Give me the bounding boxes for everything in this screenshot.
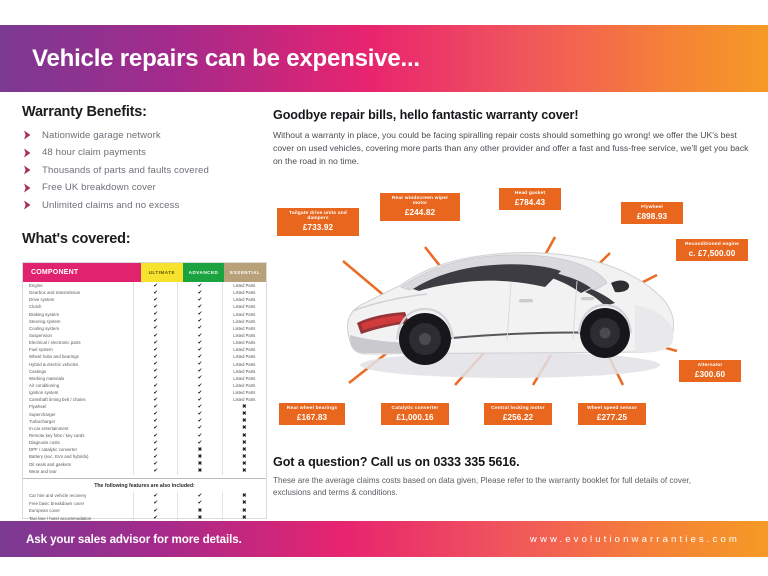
component-name: Camshaft timing belt / chains	[23, 397, 133, 402]
warranty-benefits-list: Nationwide garage network48 hour claim p…	[22, 129, 270, 211]
component-name: Remote key fobs / key cards	[23, 433, 133, 438]
component-name: Engine	[23, 283, 133, 288]
cell-advanced: ✔	[177, 492, 221, 500]
cell-advanced: ✔	[177, 303, 221, 310]
check-icon: ✔	[153, 404, 158, 410]
callout-alternator: Alternator £300.60	[679, 360, 741, 382]
callout-rear-wiper-motor: Rear windscreen wiper motor £244.82	[380, 193, 460, 221]
cell-advanced: ✔	[177, 368, 221, 375]
listed-parts-label: Listed Parts	[233, 304, 255, 309]
check-icon: ✔	[198, 318, 203, 324]
listed-parts-label: Listed Parts	[233, 283, 255, 288]
cell-essential: ✖	[222, 439, 266, 446]
check-icon: ✔	[153, 500, 158, 506]
check-icon: ✔	[153, 325, 158, 331]
cross-icon: ✖	[242, 433, 247, 439]
column-header-component: Component	[23, 263, 141, 282]
cell-advanced: ✔	[177, 382, 221, 389]
cell-ultimate: ✔	[133, 382, 177, 389]
cell-advanced: ✖	[177, 507, 221, 515]
cell-essential: Listed Parts	[222, 382, 266, 389]
check-icon: ✔	[198, 311, 203, 317]
footer-website-url[interactable]: www.evolutionwarranties.com	[530, 534, 740, 545]
check-icon: ✔	[153, 493, 158, 499]
check-icon: ✔	[153, 433, 158, 439]
component-name: Electrical / electronic parts	[23, 340, 133, 345]
check-icon: ✔	[153, 461, 158, 467]
benefit-label: Unlimited claims and no excess	[42, 200, 179, 211]
callout-label: Tailgate drive units and dampers	[282, 211, 354, 222]
cell-essential: ✖	[222, 446, 266, 453]
cell-advanced: ✔	[177, 396, 221, 403]
component-name: Wear and tear	[23, 469, 133, 474]
check-icon: ✔	[198, 333, 203, 339]
component-name: In-car entertainment	[23, 426, 133, 431]
callout-reconditioned-engine: Reconditioned engine c. £7,500.00	[676, 239, 748, 261]
table-row: Hybrid & electric vehicles✔✔Listed Parts	[23, 361, 266, 368]
cell-ultimate: ✔	[133, 432, 177, 439]
cell-advanced: ✔	[177, 389, 221, 396]
table-row: Electrical / electronic parts✔✔Listed Pa…	[23, 339, 266, 346]
check-icon: ✔	[198, 433, 203, 439]
cross-icon: ✖	[198, 454, 203, 460]
cell-ultimate: ✔	[133, 492, 177, 500]
page-footer: Ask your sales advisor for more details.…	[0, 521, 768, 557]
cross-icon: ✖	[242, 468, 247, 474]
check-icon: ✔	[153, 454, 158, 460]
cell-advanced: ✔	[177, 339, 221, 346]
component-name: Car hire and vehicle recovery	[23, 493, 133, 498]
check-icon: ✔	[153, 283, 158, 289]
callout-label: Wheel speed sensor	[583, 406, 641, 411]
check-icon: ✔	[153, 440, 158, 446]
coverage-table-header: Component ULTIMATE ADVANCED ESSENTIAL	[23, 263, 266, 282]
table-row: Remote key fobs / key cards✔✔✖	[23, 432, 266, 439]
listed-parts-label: Listed Parts	[233, 354, 255, 359]
cell-essential: Listed Parts	[222, 396, 266, 403]
cell-essential: Listed Parts	[222, 361, 266, 368]
table-row: Wheel hubs and bearings✔✔Listed Parts	[23, 353, 266, 360]
cell-advanced: ✔	[177, 425, 221, 432]
check-icon: ✔	[198, 325, 203, 331]
check-icon: ✔	[153, 368, 158, 374]
callout-price: £733.92	[282, 223, 354, 232]
cell-advanced: ✖	[177, 446, 221, 453]
cell-ultimate: ✔	[133, 346, 177, 353]
component-name: Cooling system	[23, 326, 133, 331]
check-icon: ✔	[153, 447, 158, 453]
cell-essential: ✖	[222, 418, 266, 425]
check-icon: ✔	[198, 390, 203, 396]
component-name: DPF / catalytic converter	[23, 447, 133, 452]
cta-disclaimer: These are the average claims costs based…	[273, 475, 703, 499]
cell-ultimate: ✔	[133, 403, 177, 410]
callout-tailgate: Tailgate drive units and dampers £733.92	[277, 208, 359, 236]
cell-ultimate: ✔	[133, 375, 177, 382]
component-name: Flywheel	[23, 404, 133, 409]
warranty-benefits-title: Warranty Benefits:	[22, 104, 270, 120]
cell-ultimate: ✔	[133, 318, 177, 325]
check-icon: ✔	[198, 440, 203, 446]
page-header: Vehicle repairs can be expensive...	[0, 25, 768, 92]
component-name: Suspension	[23, 333, 133, 338]
cell-essential: Listed Parts	[222, 353, 266, 360]
callout-price: c. £7,500.00	[681, 249, 743, 258]
check-icon: ✔	[198, 500, 203, 506]
component-name: Supercharger	[23, 412, 133, 417]
cell-essential: ✖	[222, 403, 266, 410]
cell-advanced: ✔	[177, 311, 221, 318]
cell-advanced: ✔	[177, 296, 221, 303]
cell-advanced: ✔	[177, 403, 221, 410]
table-row: Engine✔✔Listed Parts	[23, 282, 266, 289]
intro-body: Without a warranty in place, you could b…	[273, 129, 751, 169]
table-row: Gearbox and transmission✔✔Listed Parts	[23, 289, 266, 296]
cell-ultimate: ✔	[133, 499, 177, 507]
callout-head-gasket: Head gasket £784.43	[499, 188, 561, 210]
cell-essential: Listed Parts	[222, 311, 266, 318]
cross-icon: ✖	[198, 447, 203, 453]
callout-label: Rear windscreen wiper motor	[385, 196, 455, 207]
column-header-ultimate: ULTIMATE	[141, 263, 183, 282]
footer-advisor-text: Ask your sales advisor for more details.	[26, 533, 242, 546]
callout-price: £244.82	[385, 208, 455, 217]
check-icon: ✔	[153, 354, 158, 360]
check-icon: ✔	[153, 333, 158, 339]
cross-icon: ✖	[242, 440, 247, 446]
listed-parts-label: Listed Parts	[233, 290, 255, 295]
cell-essential: Listed Parts	[222, 346, 266, 353]
component-name: Diagnosis costs	[23, 440, 133, 445]
table-row: Braking system✔✔Listed Parts	[23, 311, 266, 318]
table-row: Turbocharger✔✔✖	[23, 418, 266, 425]
whats-covered-title: What's covered:	[22, 231, 270, 247]
intro-block: Goodbye repair bills, hello fantastic wa…	[273, 108, 751, 169]
listed-parts-label: Listed Parts	[233, 383, 255, 388]
table-row: Ignition system✔✔Listed Parts	[23, 389, 266, 396]
cell-ultimate: ✔	[133, 446, 177, 453]
cell-ultimate: ✔	[133, 461, 177, 468]
extras-subheading: The following features are also included…	[23, 478, 266, 492]
cell-advanced: ✔	[177, 318, 221, 325]
callout-label: Alternator	[684, 363, 736, 368]
benefit-item: Nationwide garage network	[22, 129, 270, 141]
cell-essential: Listed Parts	[222, 282, 266, 289]
check-icon: ✔	[153, 347, 158, 353]
listed-parts-label: Listed Parts	[233, 319, 255, 324]
table-row: Flywheel✔✔✖	[23, 403, 266, 410]
left-column: Warranty Benefits: Nationwide garage net…	[22, 104, 270, 256]
table-row: Oil seals and gaskets✔✖✖	[23, 461, 266, 468]
check-icon: ✔	[198, 340, 203, 346]
column-header-advanced: ADVANCED	[183, 263, 225, 282]
callout-label: Flywheel	[626, 205, 678, 210]
component-name: Turbocharger	[23, 419, 133, 424]
cell-ultimate: ✔	[133, 311, 177, 318]
column-header-essential: ESSENTIAL	[224, 263, 266, 282]
cross-icon: ✖	[242, 508, 247, 514]
check-icon: ✔	[198, 368, 203, 374]
cell-advanced: ✔	[177, 282, 221, 289]
check-icon: ✔	[198, 418, 203, 424]
coverage-extras-body: Car hire and vehicle recovery✔✔✖Free bas…	[23, 492, 266, 518]
check-icon: ✔	[153, 418, 158, 424]
chevron-right-icon	[22, 129, 34, 141]
benefit-item: Thousands of parts and faults covered	[22, 164, 270, 176]
callout-price: £256.22	[489, 413, 547, 422]
cell-ultimate: ✔	[133, 389, 177, 396]
check-icon: ✔	[198, 304, 203, 310]
callout-price: £167.83	[284, 413, 340, 422]
cell-advanced: ✔	[177, 499, 221, 507]
component-name: Clutch	[23, 304, 133, 309]
callout-flywheel: Flywheel £898.93	[621, 202, 683, 224]
cross-icon: ✖	[242, 404, 247, 410]
cell-ultimate: ✔	[133, 339, 177, 346]
coverage-table-body: Engine✔✔Listed PartsGearbox and transmis…	[23, 282, 266, 475]
table-row: Cooling system✔✔Listed Parts	[23, 325, 266, 332]
chevron-right-icon	[22, 199, 34, 211]
callout-label: Head gasket	[504, 191, 556, 196]
cross-icon: ✖	[198, 461, 203, 467]
table-row: Air conditioning✔✔Listed Parts	[23, 382, 266, 389]
check-icon: ✔	[153, 297, 158, 303]
check-icon: ✔	[153, 397, 158, 403]
car-diagram: Tailgate drive units and dampers £733.92…	[273, 185, 768, 450]
cell-essential: ✖	[222, 492, 266, 500]
cell-ultimate: ✔	[133, 411, 177, 418]
table-row: Drive system✔✔Listed Parts	[23, 296, 266, 303]
component-name: Battery (exc. EVs and hybrids)	[23, 454, 133, 459]
cross-icon: ✖	[198, 508, 203, 514]
check-icon: ✔	[198, 375, 203, 381]
cell-essential: Listed Parts	[222, 375, 266, 382]
callout-price: £784.43	[504, 198, 556, 207]
cross-icon: ✖	[242, 493, 247, 499]
benefit-label: Thousands of parts and faults covered	[42, 165, 209, 176]
callout-label: Central locking motor	[489, 406, 547, 411]
cell-ultimate: ✔	[133, 453, 177, 460]
cell-ultimate: ✔	[133, 368, 177, 375]
check-icon: ✔	[198, 283, 203, 289]
component-name: Castings	[23, 369, 133, 374]
cell-essential: ✖	[222, 411, 266, 418]
callout-central-locking-motor: Central locking motor £256.22	[484, 403, 552, 425]
listed-parts-label: Listed Parts	[233, 297, 255, 302]
cell-ultimate: ✔	[133, 325, 177, 332]
cell-ultimate: ✔	[133, 425, 177, 432]
check-icon: ✔	[153, 318, 158, 324]
check-icon: ✔	[153, 411, 158, 417]
listed-parts-label: Listed Parts	[233, 347, 255, 352]
cross-icon: ✖	[242, 425, 247, 431]
callout-rear-wheel-bearings: Rear wheel bearings £167.83	[279, 403, 345, 425]
listed-parts-label: Listed Parts	[233, 397, 255, 402]
cell-essential: Listed Parts	[222, 303, 266, 310]
check-icon: ✔	[153, 375, 158, 381]
check-icon: ✔	[153, 468, 158, 474]
check-icon: ✔	[153, 390, 158, 396]
table-row: Suspension✔✔Listed Parts	[23, 332, 266, 339]
benefit-item: Free UK breakdown cover	[22, 182, 270, 194]
cell-essential: Listed Parts	[222, 289, 266, 296]
table-row: DPF / catalytic converter✔✖✖	[23, 446, 266, 453]
cell-advanced: ✔	[177, 346, 221, 353]
cell-ultimate: ✔	[133, 468, 177, 475]
table-row: Wear and tear✔✖✖	[23, 468, 266, 475]
cross-icon: ✖	[242, 461, 247, 467]
cell-essential: ✖	[222, 507, 266, 515]
check-icon: ✔	[153, 290, 158, 296]
cell-ultimate: ✔	[133, 296, 177, 303]
cell-essential: Listed Parts	[222, 332, 266, 339]
cell-essential: ✖	[222, 468, 266, 475]
check-icon: ✔	[153, 340, 158, 346]
callout-label: Catalytic converter	[386, 406, 444, 411]
cross-icon: ✖	[242, 500, 247, 506]
cell-ultimate: ✔	[133, 332, 177, 339]
cell-advanced: ✔	[177, 418, 221, 425]
coverage-table: Component ULTIMATE ADVANCED ESSENTIAL En…	[22, 262, 267, 519]
table-row: Diagnosis costs✔✔✖	[23, 439, 266, 446]
cell-ultimate: ✔	[133, 282, 177, 289]
component-name: Working materials	[23, 376, 133, 381]
cell-advanced: ✔	[177, 353, 221, 360]
check-icon: ✔	[198, 354, 203, 360]
listed-parts-label: Listed Parts	[233, 326, 255, 331]
check-icon: ✔	[153, 425, 158, 431]
cell-advanced: ✔	[177, 289, 221, 296]
cell-essential: Listed Parts	[222, 339, 266, 346]
benefit-label: Free UK breakdown cover	[42, 182, 156, 193]
cell-advanced: ✖	[177, 453, 221, 460]
component-name: European cover	[23, 508, 133, 513]
table-row: In-car entertainment✔✔✖	[23, 425, 266, 432]
listed-parts-label: Listed Parts	[233, 312, 255, 317]
cell-ultimate: ✔	[133, 361, 177, 368]
intro-title: Goodbye repair bills, hello fantastic wa…	[273, 108, 751, 122]
callout-price: £277.25	[583, 413, 641, 422]
check-icon: ✔	[153, 304, 158, 310]
cell-essential: Listed Parts	[222, 318, 266, 325]
table-row: Castings✔✔Listed Parts	[23, 368, 266, 375]
cell-essential: Listed Parts	[222, 296, 266, 303]
benefit-item: 48 hour claim payments	[22, 147, 270, 159]
check-icon: ✔	[198, 290, 203, 296]
cross-icon: ✖	[242, 454, 247, 460]
component-name: Gearbox and transmission	[23, 290, 133, 295]
cell-advanced: ✔	[177, 325, 221, 332]
listed-parts-label: Listed Parts	[233, 369, 255, 374]
cell-advanced: ✔	[177, 375, 221, 382]
cell-ultimate: ✔	[133, 418, 177, 425]
cta-block: Got a question? Call us on 0333 335 5616…	[273, 455, 703, 499]
check-icon: ✔	[198, 411, 203, 417]
cell-essential: ✖	[222, 425, 266, 432]
check-icon: ✔	[198, 404, 203, 410]
cell-advanced: ✔	[177, 432, 221, 439]
table-row: Battery (exc. EVs and hybrids)✔✖✖	[23, 453, 266, 460]
callout-catalytic-converter: Catalytic converter £1,000.16	[381, 403, 449, 425]
cross-icon: ✖	[242, 418, 247, 424]
table-row: Steering system✔✔Listed Parts	[23, 318, 266, 325]
cell-essential: Listed Parts	[222, 325, 266, 332]
table-row: Supercharger✔✔✖	[23, 411, 266, 418]
cell-ultimate: ✔	[133, 396, 177, 403]
listed-parts-label: Listed Parts	[233, 340, 255, 345]
page-title: Vehicle repairs can be expensive...	[32, 45, 420, 73]
component-name: Fuel system	[23, 347, 133, 352]
listed-parts-label: Listed Parts	[233, 390, 255, 395]
table-row: Working materials✔✔Listed Parts	[23, 375, 266, 382]
cta-title: Got a question? Call us on 0333 335 5616…	[273, 455, 703, 469]
car-illustration	[305, 213, 705, 408]
table-row: Fuel system✔✔Listed Parts	[23, 346, 266, 353]
callout-price: £300.60	[684, 370, 736, 379]
table-row: Clutch✔✔Listed Parts	[23, 303, 266, 310]
cell-essential: Listed Parts	[222, 368, 266, 375]
listed-parts-label: Listed Parts	[233, 376, 255, 381]
table-row: European cover✔✖✖	[23, 507, 266, 515]
cell-ultimate: ✔	[133, 303, 177, 310]
component-name: Braking system	[23, 312, 133, 317]
cell-essential: ✖	[222, 499, 266, 507]
cell-ultimate: ✔	[133, 439, 177, 446]
benefit-item: Unlimited claims and no excess	[22, 199, 270, 211]
cell-essential: ✖	[222, 453, 266, 460]
check-icon: ✔	[153, 311, 158, 317]
callout-price: £898.93	[626, 212, 678, 221]
component-name: Air conditioning	[23, 383, 133, 388]
callout-wheel-speed-sensor: Wheel speed sensor £277.25	[578, 403, 646, 425]
callout-price: £1,000.16	[386, 413, 444, 422]
listed-parts-label: Listed Parts	[233, 362, 255, 367]
cell-essential: ✖	[222, 461, 266, 468]
check-icon: ✔	[153, 383, 158, 389]
cell-advanced: ✖	[177, 468, 221, 475]
cell-essential: Listed Parts	[222, 389, 266, 396]
listed-parts-label: Listed Parts	[233, 333, 255, 338]
component-name: Free basic breakdown cover	[23, 501, 133, 506]
cell-advanced: ✖	[177, 461, 221, 468]
table-row: Free basic breakdown cover✔✔✖	[23, 499, 266, 507]
table-row: Camshaft timing belt / chains✔✔Listed Pa…	[23, 396, 266, 403]
cell-ultimate: ✔	[133, 289, 177, 296]
check-icon: ✔	[198, 493, 203, 499]
check-icon: ✔	[153, 361, 158, 367]
component-name: Hybrid & electric vehicles	[23, 362, 133, 367]
chevron-right-icon	[22, 147, 34, 159]
check-icon: ✔	[198, 425, 203, 431]
component-name: Oil seals and gaskets	[23, 462, 133, 467]
component-name: Drive system	[23, 297, 133, 302]
component-name: Wheel hubs and bearings	[23, 354, 133, 359]
cell-ultimate: ✔	[133, 507, 177, 515]
cell-advanced: ✔	[177, 411, 221, 418]
cell-advanced: ✔	[177, 439, 221, 446]
check-icon: ✔	[198, 361, 203, 367]
check-icon: ✔	[198, 347, 203, 353]
benefit-label: 48 hour claim payments	[42, 147, 146, 158]
component-name: Steering system	[23, 319, 133, 324]
cell-advanced: ✔	[177, 361, 221, 368]
cell-advanced: ✔	[177, 332, 221, 339]
benefit-label: Nationwide garage network	[42, 130, 161, 141]
cell-essential: ✖	[222, 432, 266, 439]
chevron-right-icon	[22, 182, 34, 194]
cross-icon: ✖	[242, 447, 247, 453]
cell-ultimate: ✔	[133, 353, 177, 360]
